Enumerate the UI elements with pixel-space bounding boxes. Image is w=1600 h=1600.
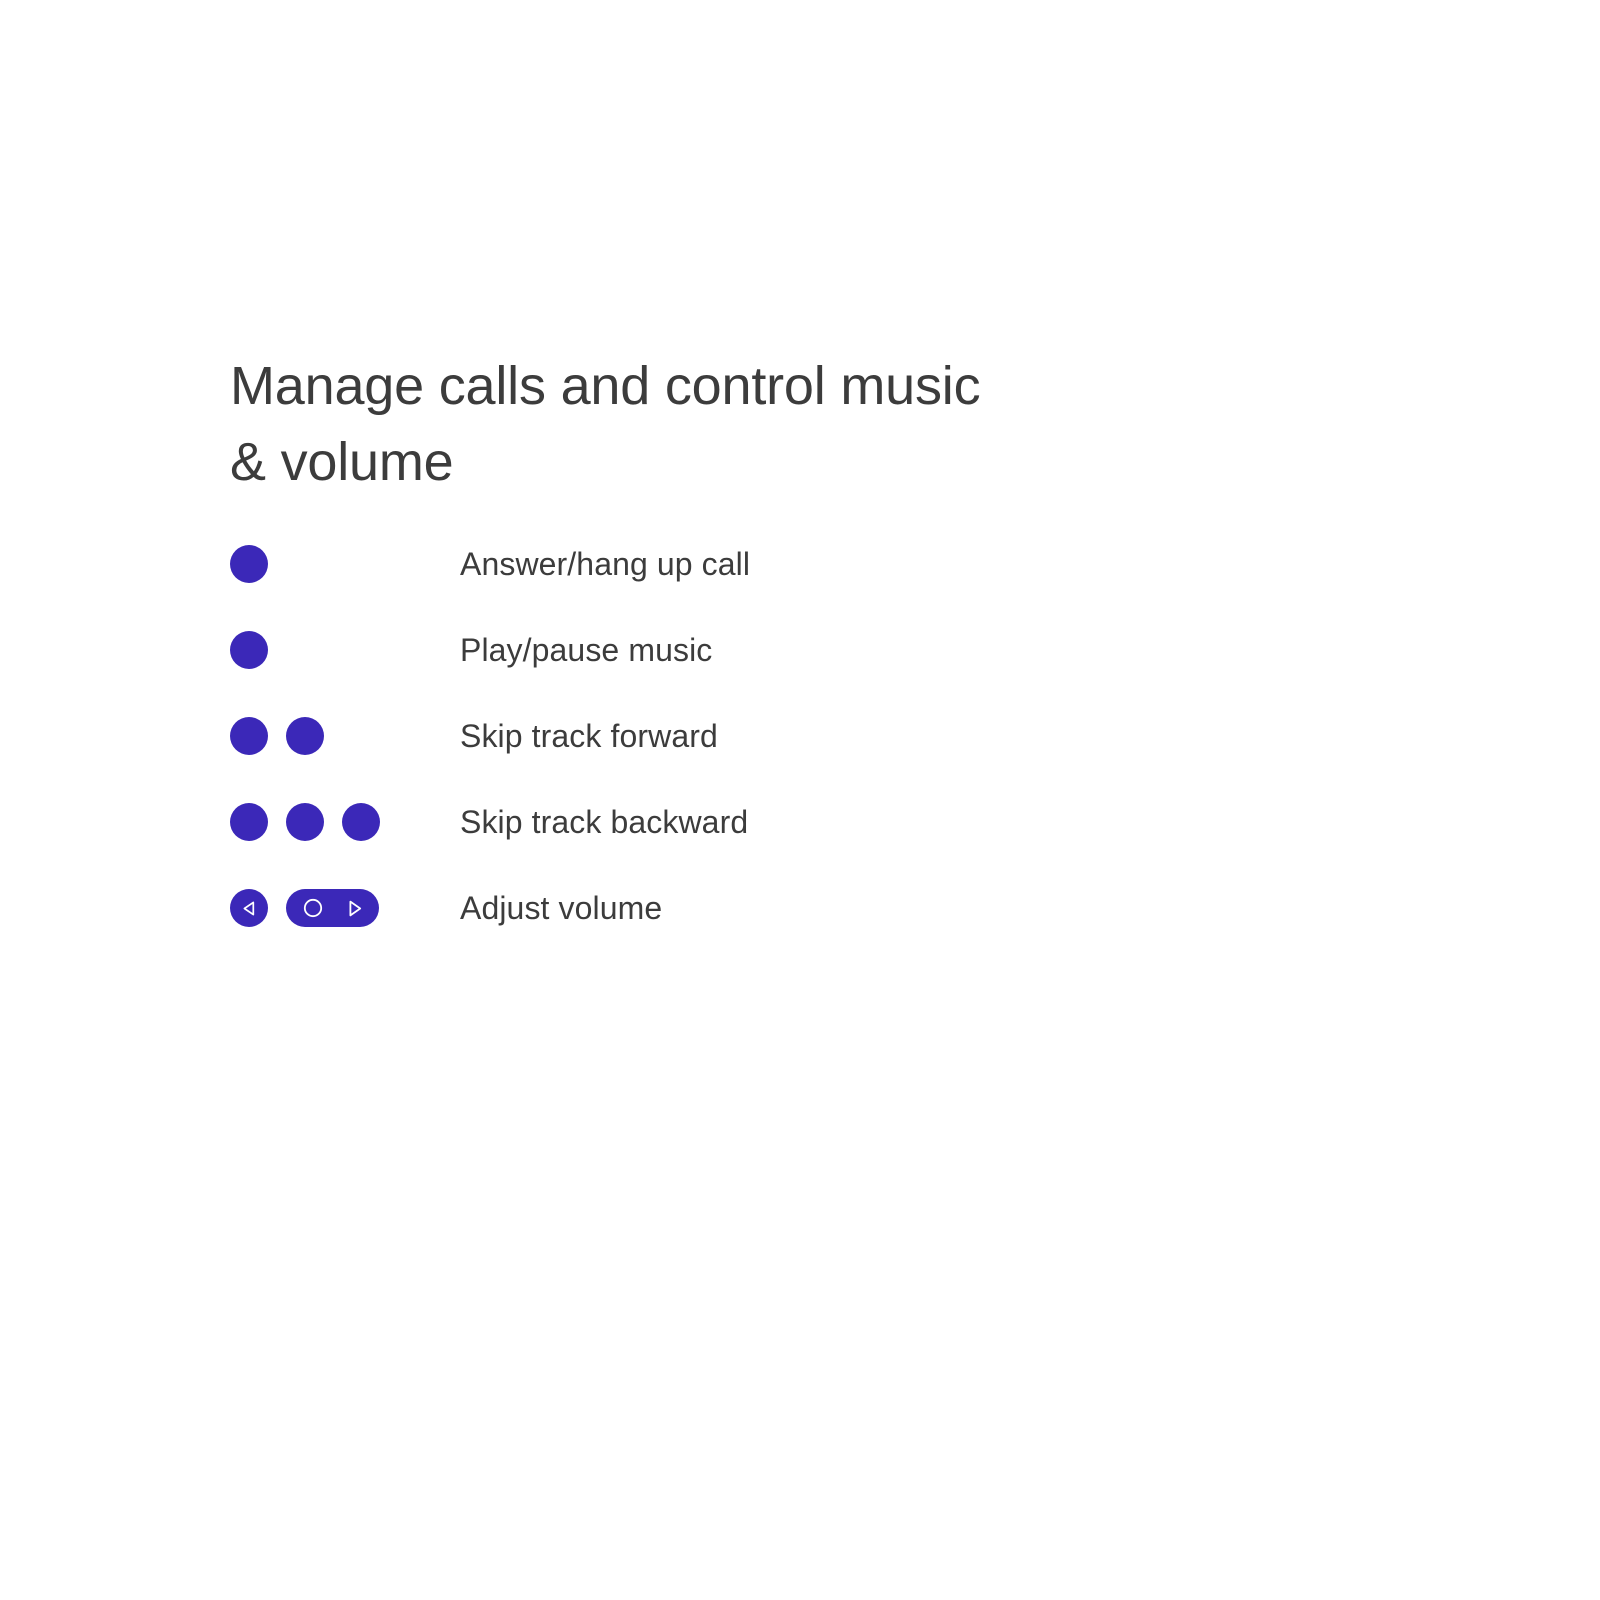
gesture-indicator-one-dot <box>230 607 460 693</box>
gesture-indicator-one-dot <box>230 521 460 607</box>
triangle-left-icon <box>240 899 259 918</box>
list-item-label: Skip track forward <box>460 716 718 756</box>
filled-circle-icon <box>286 803 324 841</box>
slide-canvas: Manage calls and control music & volume … <box>0 0 1600 1600</box>
filled-circle-icon <box>230 545 268 583</box>
list-item: Play/pause music <box>230 607 1130 693</box>
gesture-indicator-volume-swipe <box>230 865 460 951</box>
volume-down-badge <box>230 889 268 927</box>
gesture-indicator-two-dots <box>230 693 460 779</box>
circle-outline-icon <box>301 896 325 920</box>
list-item-label: Play/pause music <box>460 630 712 670</box>
filled-circle-icon <box>286 717 324 755</box>
gesture-indicator-three-dots <box>230 779 460 865</box>
page-title: Manage calls and control music & volume <box>230 348 1130 500</box>
list-item: Answer/hang up call <box>230 521 1130 607</box>
filled-circle-icon <box>230 803 268 841</box>
list-item: Skip track forward <box>230 693 1130 779</box>
triangle-right-icon <box>344 898 365 919</box>
list-item-label: Skip track backward <box>460 802 748 842</box>
list-item-label: Adjust volume <box>460 888 662 928</box>
filled-circle-icon <box>230 717 268 755</box>
filled-circle-icon <box>342 803 380 841</box>
control-gesture-list: Answer/hang up call Play/pause music Ski… <box>230 521 1130 951</box>
list-item-label: Answer/hang up call <box>460 544 750 584</box>
volume-up-hold-badge <box>286 889 379 927</box>
list-item: Adjust volume <box>230 865 1130 951</box>
filled-circle-icon <box>230 631 268 669</box>
list-item: Skip track backward <box>230 779 1130 865</box>
